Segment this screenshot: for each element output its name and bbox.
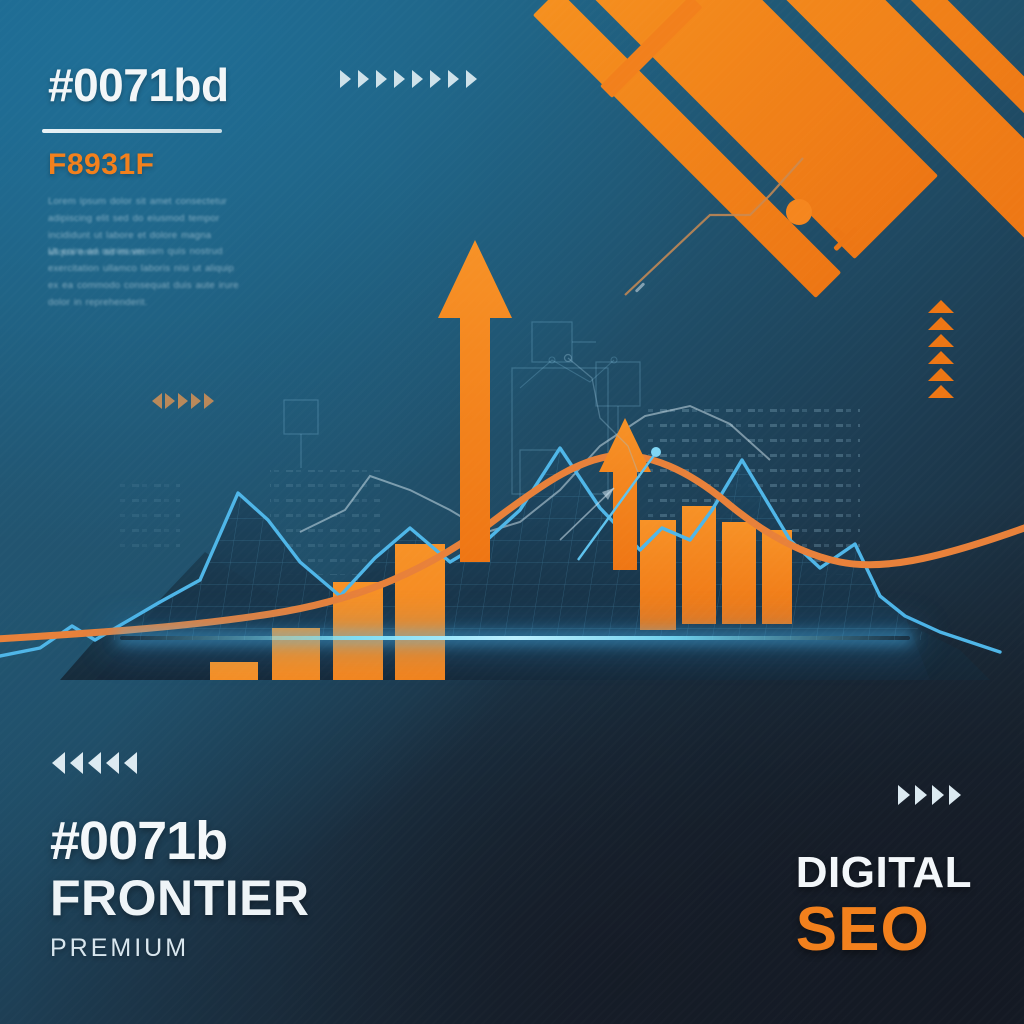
header-divider — [42, 129, 222, 133]
brand-block: #0071b FRONTIER PREMIUM — [50, 812, 310, 963]
logo-bottom-text: SEO — [796, 898, 972, 962]
footer-chevrons-left-icon — [52, 752, 137, 774]
brand-hex-code: #0071b — [50, 812, 310, 870]
footer-chevrons-right-icon — [898, 785, 961, 805]
data-matrix-backdrop-3 — [120, 480, 180, 550]
header-hex-code: #0071bd — [48, 58, 229, 112]
logo-top-text: DIGITAL — [796, 848, 972, 898]
bar-1 — [210, 662, 258, 680]
baseline-glow — [120, 636, 910, 640]
bar-5 — [640, 520, 676, 630]
top-chevrons-right-icon — [340, 70, 477, 88]
header-paragraph-2: Ut enim ad minim veniam quis nostrud exe… — [48, 243, 240, 311]
bar-7 — [722, 522, 756, 624]
header-accent-hex-code: F8931F — [48, 148, 154, 182]
logo-block: DIGITAL SEO — [796, 848, 972, 962]
poster-canvas: #0071bd F8931F Lorem ipsum dolor sit ame… — [0, 0, 1024, 1024]
brand-name: FRONTIER — [50, 870, 310, 926]
bar-6 — [682, 506, 716, 624]
brand-tier: PREMIUM — [50, 934, 310, 963]
